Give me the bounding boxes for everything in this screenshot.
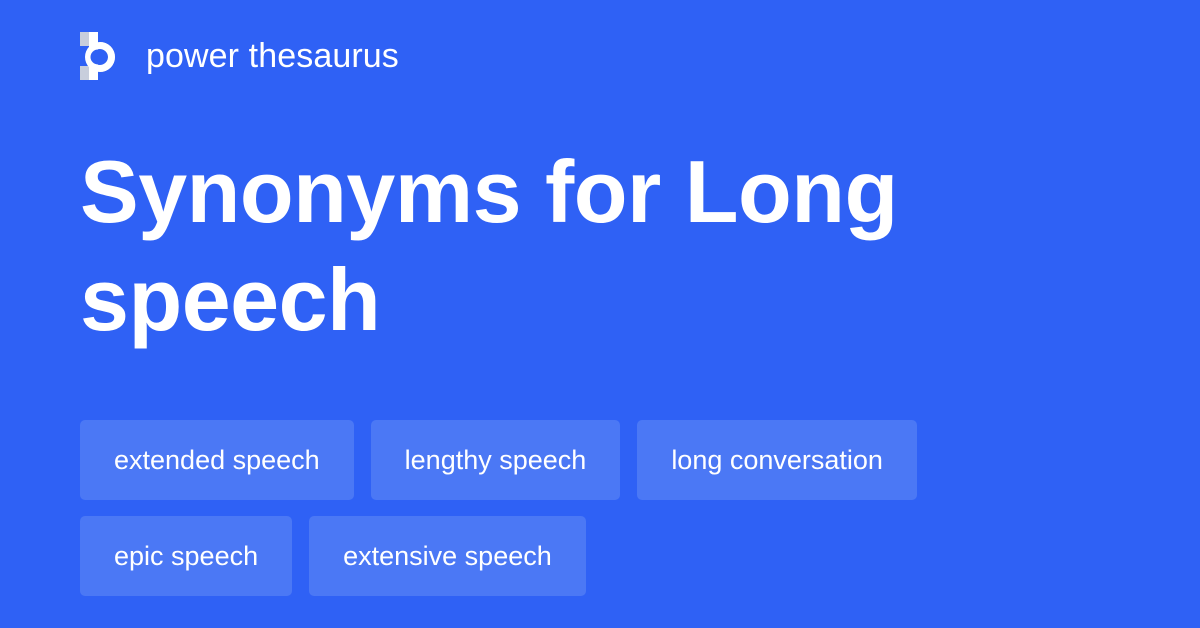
power-thesaurus-b-logo-icon: [80, 32, 124, 80]
synonym-tag-label: long conversation: [671, 447, 883, 474]
synonym-tag[interactable]: extended speech: [80, 420, 354, 500]
synonym-tag-label: epic speech: [114, 543, 258, 570]
synonym-tag-label: extensive speech: [343, 543, 552, 570]
synonym-tag-label: lengthy speech: [405, 447, 587, 474]
synonym-tag[interactable]: epic speech: [80, 516, 292, 596]
synonym-tag[interactable]: extensive speech: [309, 516, 586, 596]
synonym-tag[interactable]: long conversation: [637, 420, 917, 500]
brand-header[interactable]: power thesaurus: [80, 29, 399, 83]
synonym-tag-list: extended speech lengthy speech long conv…: [80, 420, 1120, 596]
og-card: power thesaurus Synonyms for Long speech…: [0, 0, 1200, 628]
brand-name: power thesaurus: [146, 39, 399, 73]
synonym-tag-label: extended speech: [114, 447, 320, 474]
synonym-tag[interactable]: lengthy speech: [371, 420, 621, 500]
page-title: Synonyms for Long speech: [80, 138, 1090, 354]
